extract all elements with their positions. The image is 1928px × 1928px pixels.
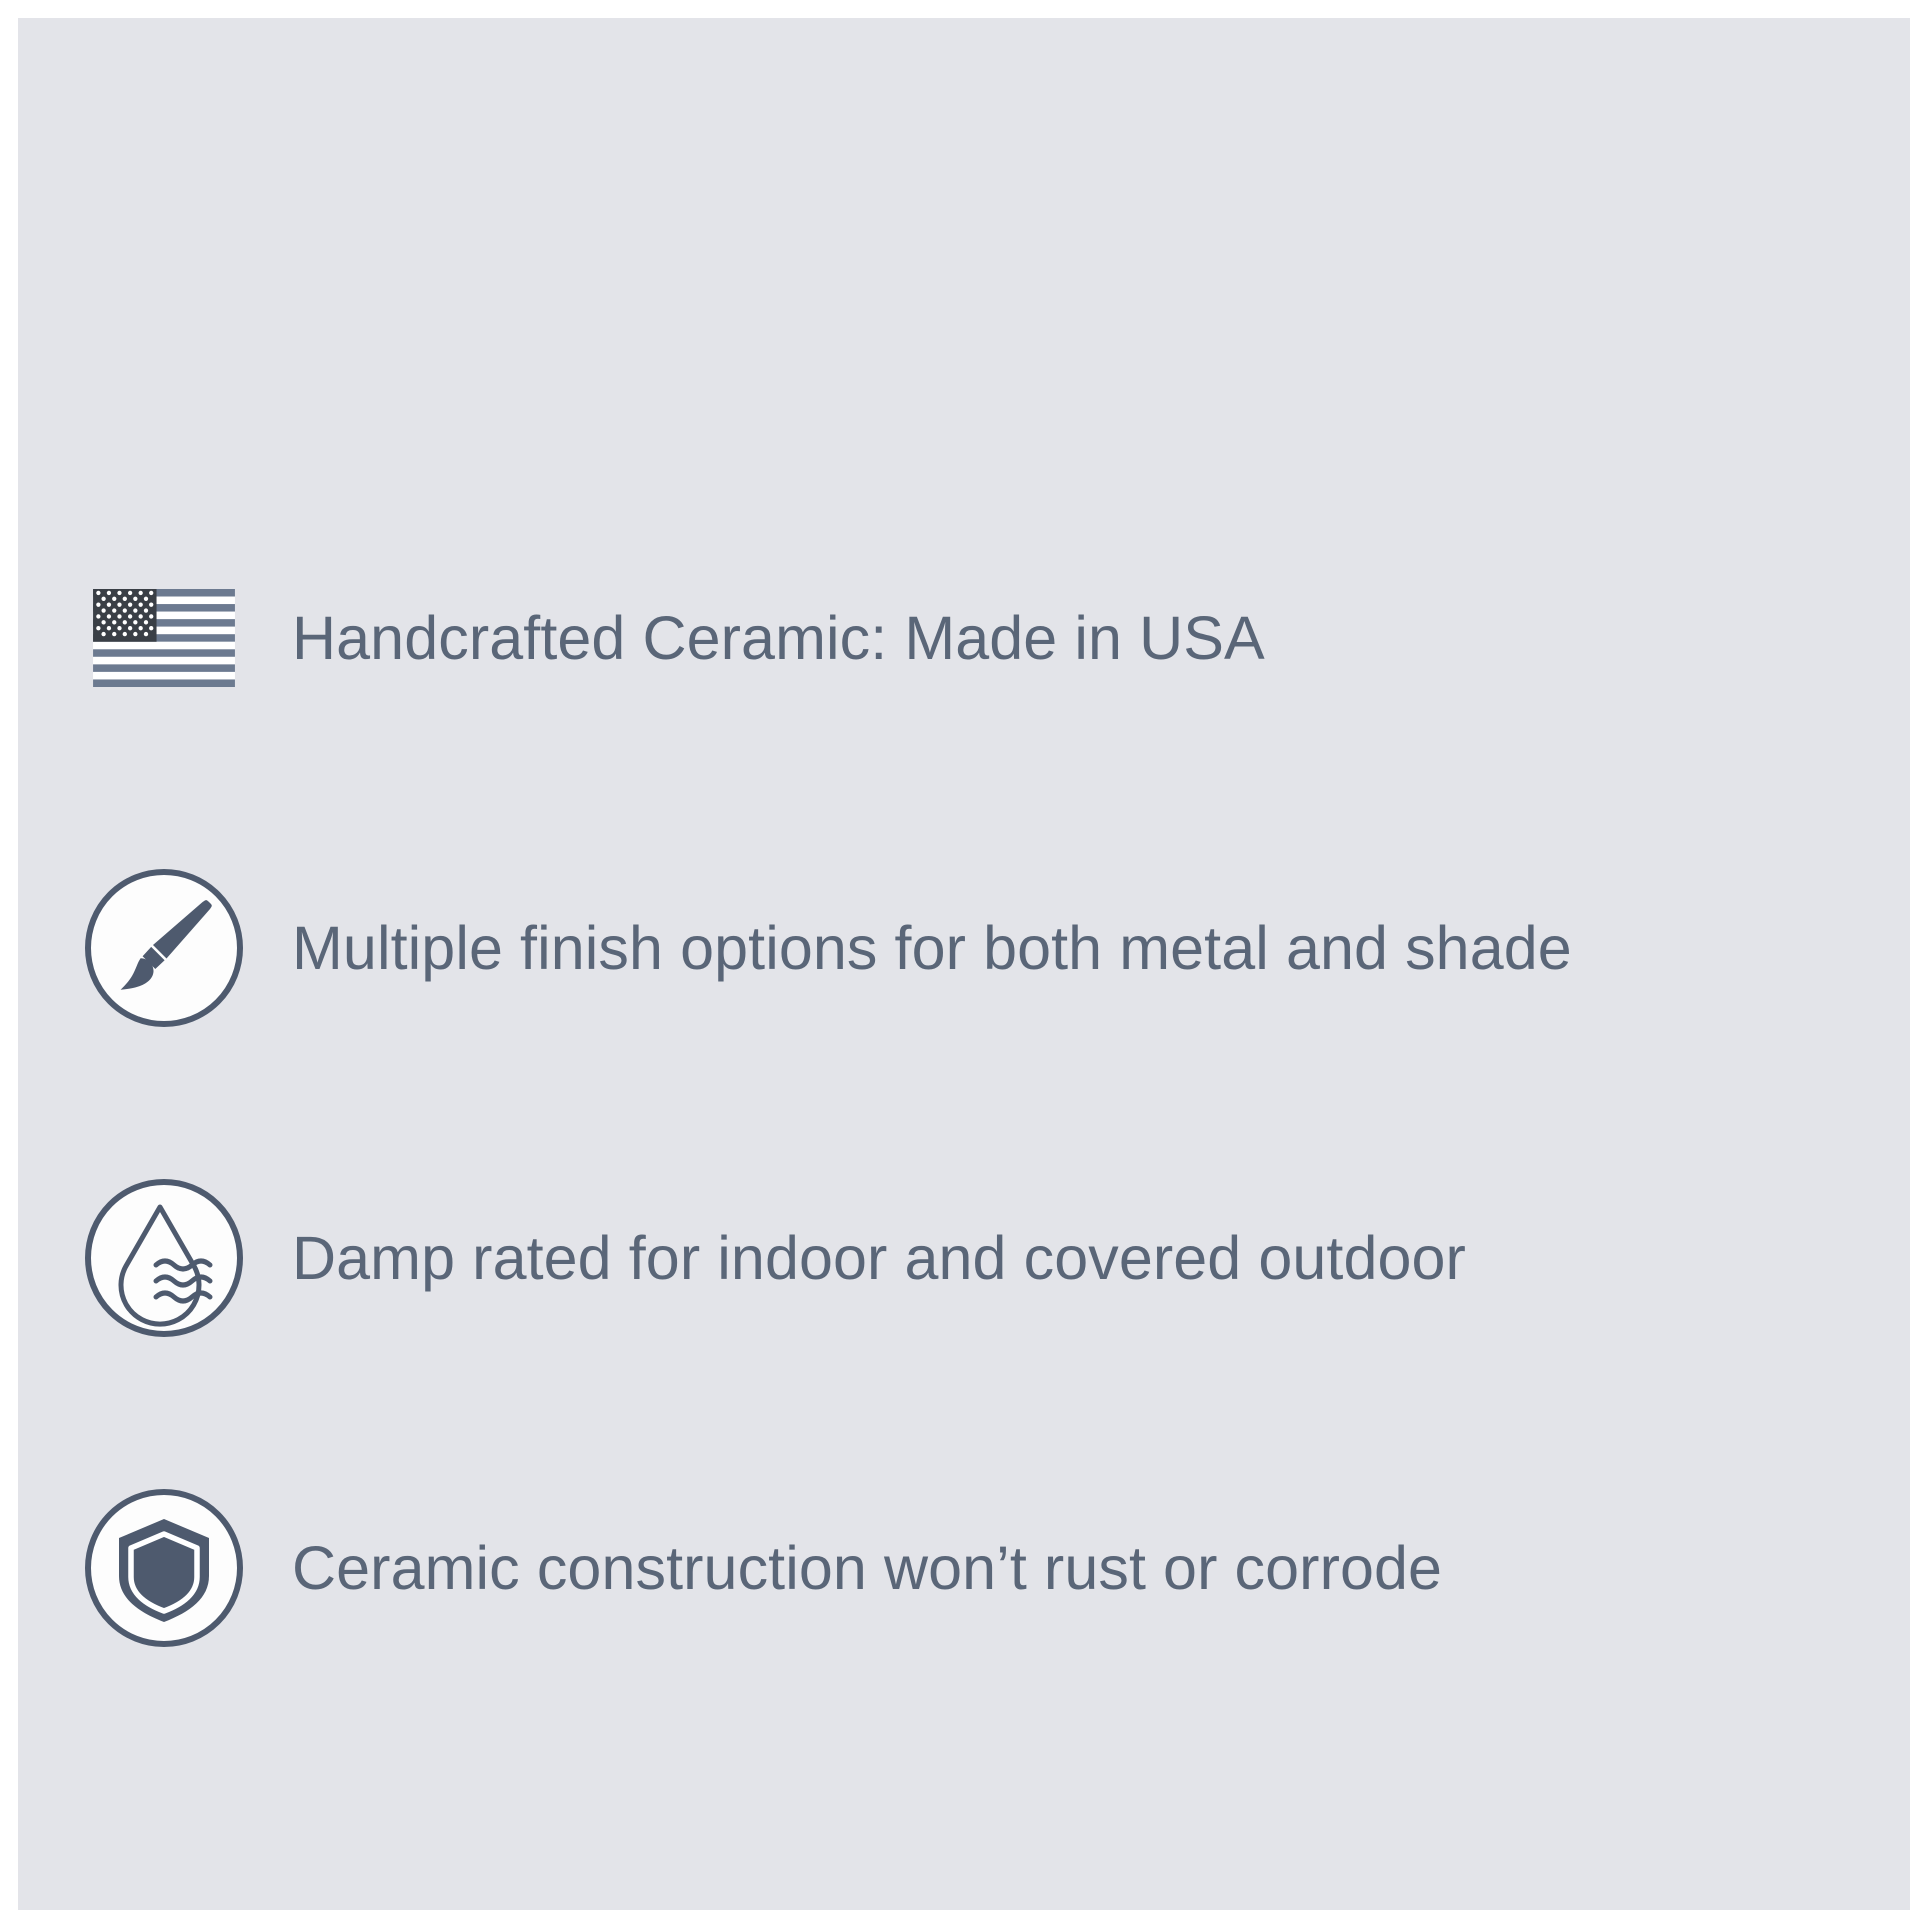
feature-list: Handcrafted Ceramic: Made in USA Mu bbox=[70, 483, 1870, 1723]
feature-label: Damp rated for indoor and covered outdoo… bbox=[292, 1223, 1466, 1293]
usa-flag-icon bbox=[78, 583, 250, 693]
feature-label: Handcrafted Ceramic: Made in USA bbox=[292, 603, 1265, 673]
feature-label: Ceramic construction won’t rust or corro… bbox=[292, 1533, 1442, 1603]
feature-item-ceramic-construction: Ceramic construction won’t rust or corro… bbox=[70, 1413, 1870, 1723]
feature-item-made-in-usa: Handcrafted Ceramic: Made in USA bbox=[70, 483, 1870, 793]
paintbrush-icon bbox=[78, 862, 250, 1034]
feature-item-finish-options: Multiple finish options for both metal a… bbox=[70, 793, 1870, 1103]
shield-icon bbox=[78, 1482, 250, 1654]
feature-panel: Handcrafted Ceramic: Made in USA Mu bbox=[18, 18, 1910, 1910]
feature-item-damp-rated: Damp rated for indoor and covered outdoo… bbox=[70, 1103, 1870, 1413]
feature-label: Multiple finish options for both metal a… bbox=[292, 913, 1572, 983]
water-droplet-icon bbox=[78, 1172, 250, 1344]
